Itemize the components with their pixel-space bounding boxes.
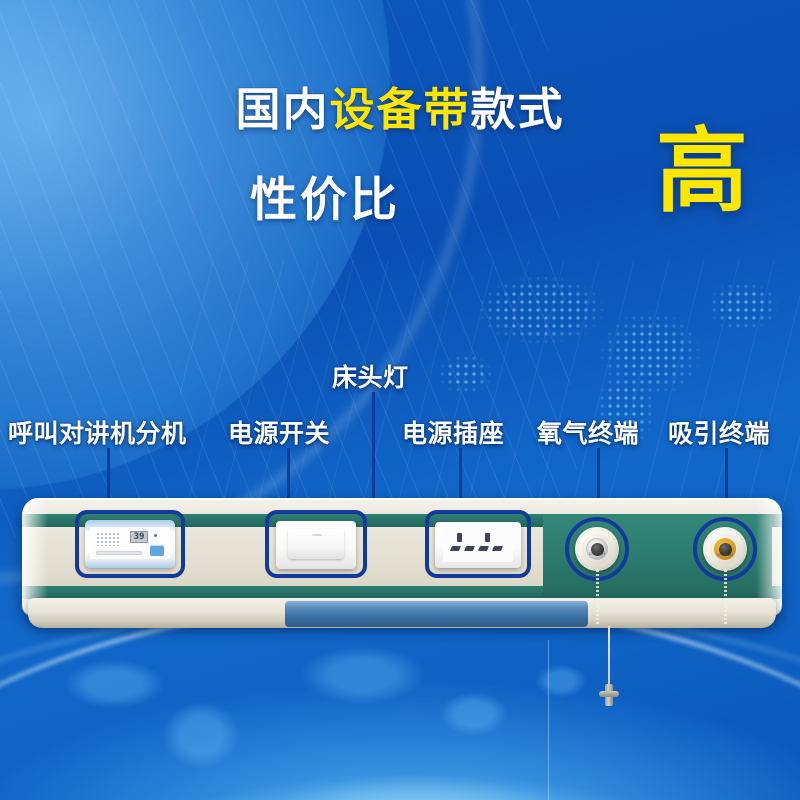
socket-angled-slot-3 xyxy=(478,546,489,551)
promo-banner: 国内设备带款式 性价比 高 呼叫对讲机分机 电源开关 床头灯 电源插座 氧气终端… xyxy=(0,0,800,800)
socket-angled-slot-4 xyxy=(492,546,503,551)
callout-label-power-socket: 电源插座 xyxy=(402,414,504,450)
socket-pin-slot-right xyxy=(485,533,490,542)
oxygen-inner-disc: OXYGEN xyxy=(586,538,608,560)
intercom-display: 39 xyxy=(130,531,148,543)
callout-label-oxygen: 氧气终端 xyxy=(537,414,639,450)
suction-inner-disc: VACUUM xyxy=(714,538,736,560)
socket-faceplate xyxy=(443,527,513,562)
suction-marking-text: VACUUM xyxy=(717,553,733,557)
socket-angled-slot-1 xyxy=(450,546,461,551)
callout-label-suction: 吸引终端 xyxy=(668,414,770,450)
suction-hose-cord xyxy=(724,570,727,626)
status-led-icon xyxy=(154,534,157,537)
callout-label-power-switch: 电源开关 xyxy=(228,414,330,450)
oxygen-hose-cord xyxy=(596,570,599,626)
oxygen-marking-text: OXYGEN xyxy=(589,552,605,556)
speaker-grille-icon xyxy=(96,532,120,546)
power-socket-unit[interactable] xyxy=(435,522,521,568)
oxygen-terminal-outlet[interactable]: OXYGEN xyxy=(575,527,619,571)
socket-angled-slot-2 xyxy=(464,546,475,551)
intercom-slot xyxy=(96,551,142,555)
callout-label-bed-lamp: 床头灯 xyxy=(332,358,409,394)
rocker-indicator-mark xyxy=(312,534,322,536)
pull-cord-fitting xyxy=(605,684,613,706)
callout-group: 呼叫对讲机分机 电源开关 床头灯 电源插座 氧气终端 吸引终端 xyxy=(0,0,800,800)
power-switch-unit[interactable] xyxy=(276,521,356,569)
socket-pin-slot-left xyxy=(457,533,462,542)
suction-terminal-outlet[interactable]: VACUUM xyxy=(703,527,747,571)
nurse-call-intercom-unit[interactable]: 39 xyxy=(85,520,175,568)
intercom-faceplate: 39 xyxy=(90,527,170,559)
bed-lamp-diffuser xyxy=(285,601,588,627)
callout-label-intercom: 呼叫对讲机分机 xyxy=(8,414,187,450)
intercom-call-button[interactable] xyxy=(150,545,164,556)
bed-head-unit-panel: 39 xyxy=(22,498,782,638)
rocker-switch[interactable] xyxy=(288,529,344,559)
